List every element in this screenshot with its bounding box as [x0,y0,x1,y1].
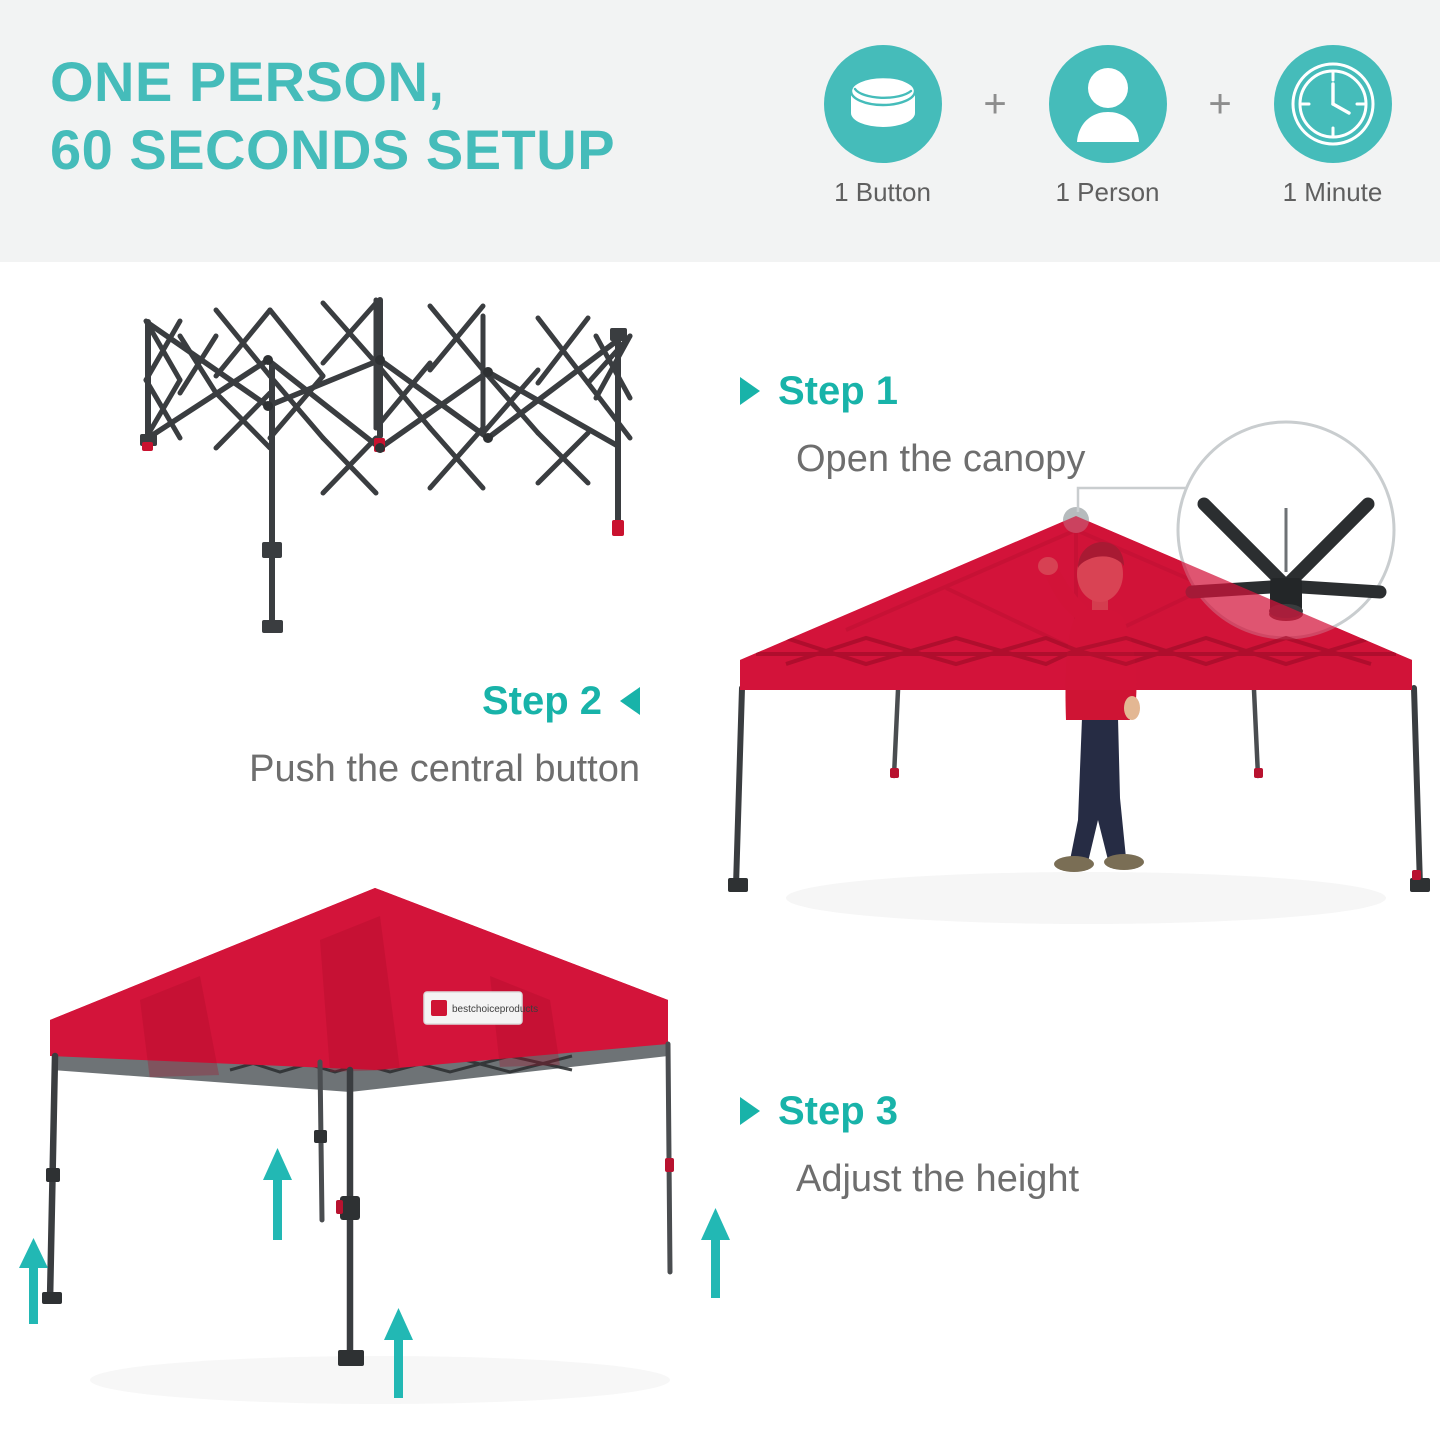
up-arrow-icon [19,1238,48,1324]
badge-circle-button [824,45,942,163]
step-1-heading: Step 1 [740,368,1085,414]
headline-line-2: 60 SECONDS SETUP [50,116,790,184]
person-icon [1075,66,1141,142]
step-2-label: Step 2 [482,678,602,724]
badge-label-minute: 1 Minute [1283,177,1383,207]
open-canopy-svg [726,468,1426,948]
folded-canopy-frame-illustration [118,288,658,653]
open-canopy-illustration [726,468,1426,948]
badge-minute: 1 Minute [1265,45,1400,207]
header-band: ONE PERSON, 60 SECONDS SETUP 1 Button + [0,0,1440,262]
step-2-description: Push the central button [80,746,640,792]
canopy-height-adjust-illustration: bestchoiceproducts [20,880,750,1420]
step-2-heading: Step 2 [80,678,640,724]
plus-separator-1: + [977,45,1013,163]
step-1-block: Step 1 Open the canopy [740,368,1085,482]
step-2-block: Step 2 Push the central button [80,678,640,792]
callout-leader-line [1078,488,1196,512]
red-slider-accent [612,520,624,536]
feature-badge-row: 1 Button + 1 Person + [815,45,1400,225]
product-label: bestchoiceproducts [424,992,538,1024]
badge-person: 1 Person [1040,45,1175,207]
up-arrow-icon [263,1148,292,1240]
step-3-description: Adjust the height [796,1156,1079,1202]
badge-label-person: 1 Person [1055,177,1159,207]
page-title: ONE PERSON, 60 SECONDS SETUP [50,48,790,184]
step-1-label: Step 1 [778,368,898,414]
headline-line-1: ONE PERSON, [50,48,790,116]
badge-circle-person [1049,45,1167,163]
badge-circle-minute [1274,45,1392,163]
step-3-label: Step 3 [778,1088,898,1134]
infographic-canvas: ONE PERSON, 60 SECONDS SETUP 1 Button + [0,0,1440,1440]
triangle-right-icon [740,377,760,405]
plus-separator-2: + [1202,45,1238,163]
badge-label-button: 1 Button [834,177,931,207]
up-arrow-icon [701,1208,730,1298]
step-3-block: Step 3 Adjust the height [740,1088,1079,1202]
step-3-heading: Step 3 [740,1088,1079,1134]
badge-button: 1 Button [815,45,950,207]
folded-frame-svg [118,288,658,653]
red-slider-accent [142,442,153,451]
button-puck-icon [846,75,920,133]
triangle-left-icon [620,687,640,715]
clock-icon [1290,61,1376,147]
product-label-brand: bestchoiceproducts [452,1004,538,1015]
canopy-adjust-svg: bestchoiceproducts [20,880,750,1420]
